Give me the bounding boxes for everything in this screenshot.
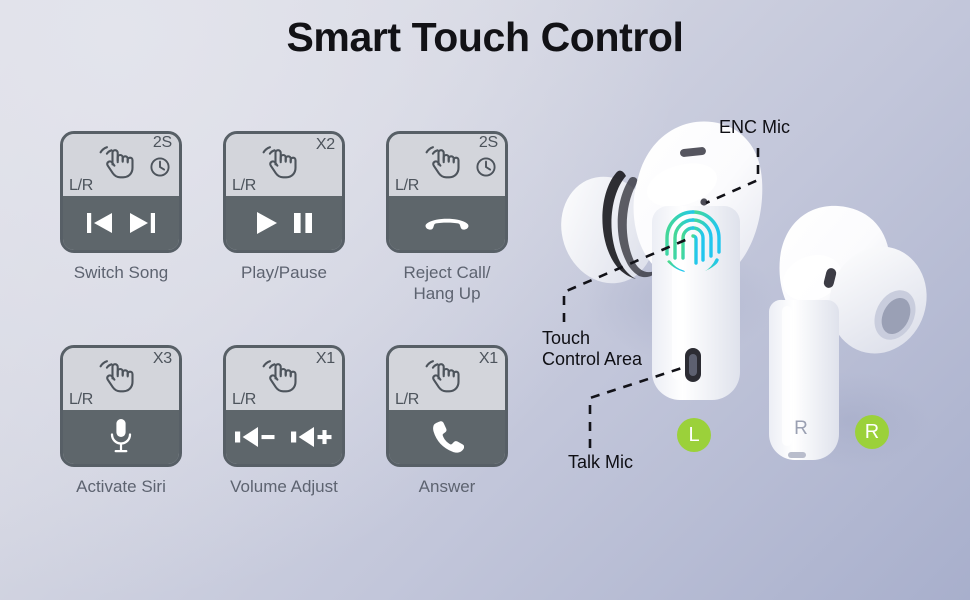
card-label: Switch Song bbox=[74, 262, 169, 283]
card-top-gesture: L/R 2S bbox=[389, 134, 505, 196]
card-label: Play/Pause bbox=[241, 262, 327, 283]
tap-hand-icon bbox=[94, 352, 140, 398]
card-body: L/R 2S bbox=[386, 131, 508, 253]
card-body: L/R X2 bbox=[223, 131, 345, 253]
gesture-count-label: X1 bbox=[316, 350, 335, 368]
card-bottom-action bbox=[226, 410, 342, 464]
tap-hand-icon bbox=[257, 352, 303, 398]
card-row-2: L/R X3 bbox=[60, 345, 530, 497]
side-label: L/R bbox=[232, 177, 256, 195]
gesture-card-play-pause[interactable]: L/R X2 bbox=[223, 131, 345, 304]
gesture-card-volume-adjust[interactable]: L/R X1 bbox=[223, 345, 345, 497]
hang-up-icon bbox=[423, 210, 471, 236]
card-bottom-action bbox=[389, 196, 505, 250]
gesture-card-answer[interactable]: L/R X1 bbox=[386, 345, 508, 497]
card-top-gesture: L/R X2 bbox=[226, 134, 342, 196]
clock-icon bbox=[149, 156, 171, 178]
card-top-gesture: L/R 2S bbox=[63, 134, 179, 196]
card-body: L/R X1 bbox=[223, 345, 345, 467]
annotation-touch-control-area: Touch Control Area bbox=[542, 328, 642, 370]
stem-marking-right: R bbox=[794, 418, 808, 439]
card-bottom-action bbox=[389, 410, 505, 464]
tap-hand-icon bbox=[257, 138, 303, 184]
gesture-count-label: X2 bbox=[316, 136, 335, 154]
clock-icon bbox=[475, 156, 497, 178]
previous-track-icon bbox=[85, 209, 115, 237]
play-icon bbox=[253, 209, 279, 237]
gesture-card-switch-song[interactable]: L/R 2S bbox=[60, 131, 182, 304]
card-bottom-action bbox=[226, 196, 342, 250]
badge-right-earbud: R bbox=[855, 415, 889, 449]
side-label: L/R bbox=[232, 391, 256, 409]
card-label: Activate Siri bbox=[76, 476, 166, 497]
card-label: Reject Call/ Hang Up bbox=[404, 262, 491, 304]
gesture-card-grid: L/R 2S bbox=[60, 131, 530, 497]
product-illustration: R ENC Mic Touch Control Area Talk Mic L … bbox=[530, 0, 970, 600]
microphone-icon bbox=[107, 417, 135, 457]
infographic-canvas: Smart Touch Control L/R 2S bbox=[0, 0, 970, 600]
pause-icon bbox=[291, 209, 315, 237]
card-body: L/R X3 bbox=[60, 345, 182, 467]
side-label: L/R bbox=[395, 391, 419, 409]
tap-hand-icon bbox=[420, 352, 466, 398]
card-top-gesture: L/R X1 bbox=[226, 348, 342, 410]
side-label: L/R bbox=[395, 177, 419, 195]
card-bottom-action bbox=[63, 410, 179, 464]
tap-hand-icon bbox=[420, 138, 466, 184]
card-body: L/R 2S bbox=[60, 131, 182, 253]
earbuds-graphic: R bbox=[530, 0, 970, 600]
gesture-count-label: 2S bbox=[479, 134, 498, 152]
card-label: Volume Adjust bbox=[230, 476, 338, 497]
answer-call-icon bbox=[430, 419, 464, 455]
card-top-gesture: L/R X3 bbox=[63, 348, 179, 410]
volume-down-icon bbox=[233, 423, 277, 451]
gesture-count-label: 2S bbox=[153, 134, 172, 152]
annotation-enc-mic: ENC Mic bbox=[719, 117, 790, 138]
gesture-card-reject-call[interactable]: L/R 2S bbox=[386, 131, 508, 304]
side-label: L/R bbox=[69, 177, 93, 195]
card-label: Answer bbox=[419, 476, 476, 497]
next-track-icon bbox=[127, 209, 157, 237]
tap-hand-icon bbox=[94, 138, 140, 184]
volume-up-icon bbox=[289, 423, 335, 451]
side-label: L/R bbox=[69, 391, 93, 409]
badge-left-earbud: L bbox=[677, 418, 711, 452]
card-bottom-action bbox=[63, 196, 179, 250]
card-row-1: L/R 2S bbox=[60, 131, 530, 304]
gesture-count-label: X3 bbox=[153, 350, 172, 368]
card-body: L/R X1 bbox=[386, 345, 508, 467]
gesture-card-activate-siri[interactable]: L/R X3 bbox=[60, 345, 182, 497]
gesture-count-label: X1 bbox=[479, 350, 498, 368]
card-top-gesture: L/R X1 bbox=[389, 348, 505, 410]
annotation-talk-mic: Talk Mic bbox=[568, 452, 633, 473]
